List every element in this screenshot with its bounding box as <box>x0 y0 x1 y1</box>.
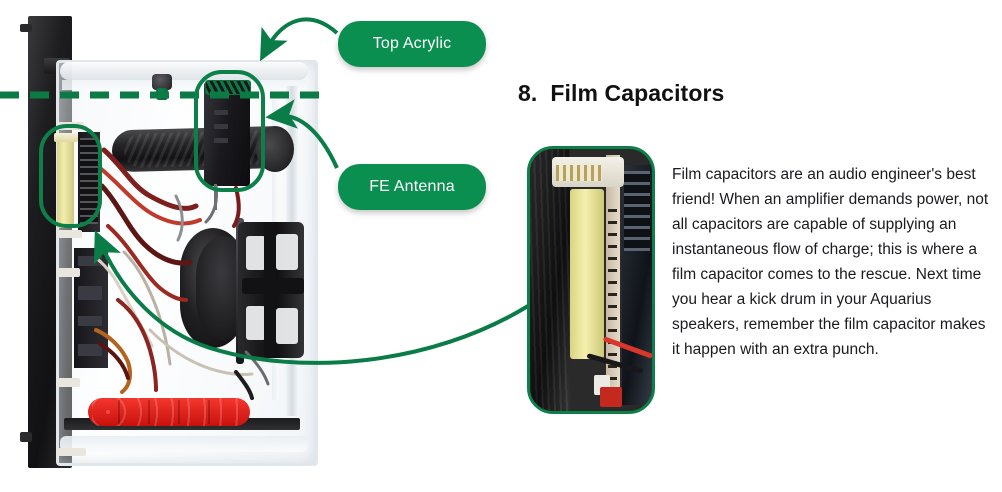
product-photo <box>0 0 340 492</box>
closeup-red-component <box>600 387 622 407</box>
callout-pill-fe-antenna[interactable]: FE Antenna <box>338 164 486 210</box>
page-root: Top Acrylic FE Antenna 8. Film Capacitor… <box>0 0 1002 492</box>
section-heading: 8. Film Capacitors <box>518 80 724 107</box>
closeup-dark-housing <box>530 149 570 411</box>
closeup-film-capacitor <box>570 189 604 359</box>
film-capacitor-closeup-photo <box>527 146 655 414</box>
wire-harness <box>0 0 340 492</box>
callout-pill-top-acrylic[interactable]: Top Acrylic <box>338 21 486 67</box>
closeup-right-fins <box>624 171 650 251</box>
section-body-text: Film capacitors are an audio engineer's … <box>672 162 990 362</box>
closeup-capacitor-leads <box>556 165 602 181</box>
callout-label-top-acrylic: Top Acrylic <box>373 35 452 53</box>
callout-label-fe-antenna: FE Antenna <box>369 178 455 196</box>
